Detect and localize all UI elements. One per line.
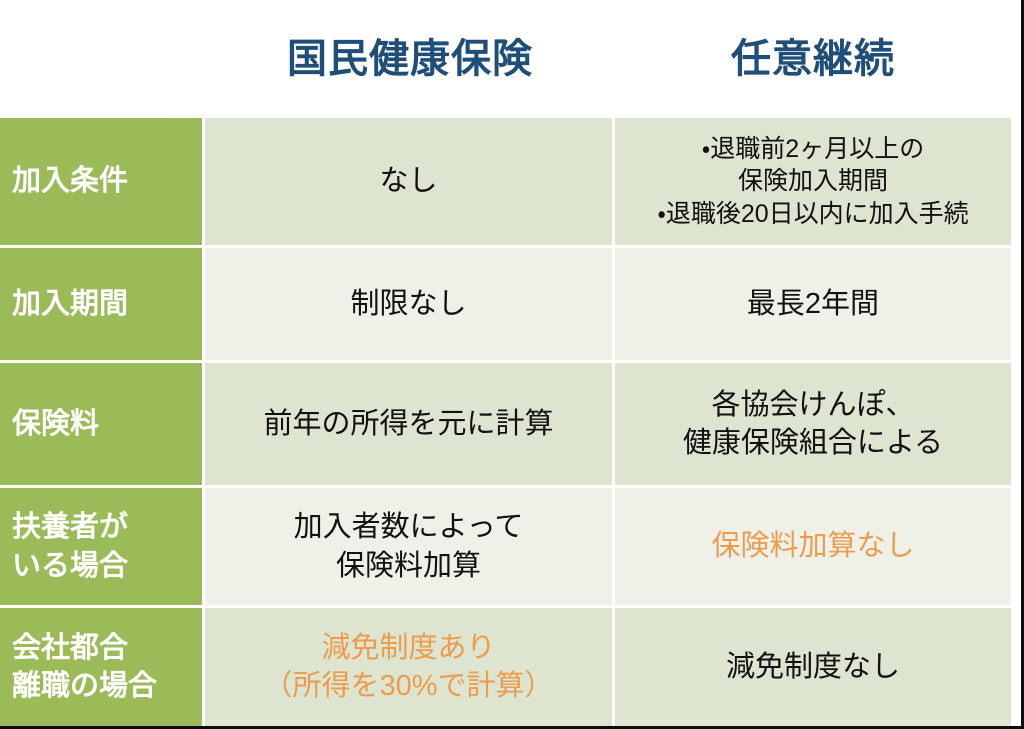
table-row: 加入条件 なし ・退職前2ヶ月以上の 保険加入期間 ・退職後20日以内に加入手続 <box>0 118 1011 248</box>
cell-kanyu-kikan-nini: 最長2年間 <box>615 248 1011 360</box>
cell-text: ・退職前2ヶ月以上の 保険加入期間 ・退職後20日以内に加入手続 <box>657 133 968 231</box>
cell-fuyosha-nini: 保険料加算なし <box>615 488 1011 605</box>
cell-line: 減免制度なし <box>726 648 900 686</box>
cell-hokenryo-nini: 各協会けんぽ、 健康保険組合による <box>615 363 1011 485</box>
cell-line: なし <box>379 162 437 200</box>
cell-line: ・退職前2ヶ月以上の <box>657 133 968 166</box>
row-label-line: 加入条件 <box>12 162 128 200</box>
cell-text: 前年の所得を元に計算 <box>263 405 553 443</box>
row-label-text: 保険料 <box>12 405 99 443</box>
row-label-fuyosha-ga-iru-baai: 扶養者が いる場合 <box>0 488 205 605</box>
cell-kaisha-tsugo-nini: 減免制度なし <box>615 608 1011 726</box>
cell-kanyu-joken-kokuho: なし <box>205 118 615 245</box>
cell-text-accent: 保険料加算なし <box>711 527 914 565</box>
cell-line: 最長2年間 <box>747 285 879 323</box>
table-column-header-row: 国民健康保険 任意継続 <box>0 0 1011 118</box>
cell-text: 最長2年間 <box>747 285 879 323</box>
cell-text: なし <box>379 162 437 200</box>
row-label-kanyu-kikan: 加入期間 <box>0 248 205 360</box>
cell-text: 各協会けんぽ、 健康保険組合による <box>683 386 943 463</box>
table-row: 扶養者が いる場合 加入者数によって 保険料加算 保険料加算なし <box>0 488 1011 608</box>
row-label-kanyu-joken: 加入条件 <box>0 118 205 245</box>
header-corner-spacer <box>0 0 205 118</box>
column-header-label: 国民健康保険 <box>287 37 533 81</box>
cell-line: 保険料加算 <box>294 547 524 585</box>
comparison-table-page: 国民健康保険 任意継続 加入条件 なし ・退職前2ヶ月以上の 保険加入期間 <box>0 0 1024 729</box>
cell-text: 加入者数によって 保険料加算 <box>294 508 524 585</box>
cell-line: 健康保険組合による <box>683 424 943 462</box>
cell-fuyosha-kokuho: 加入者数によって 保険料加算 <box>205 488 615 605</box>
row-label-text: 扶養者が いる場合 <box>12 508 128 585</box>
cell-line: 前年の所得を元に計算 <box>263 405 553 443</box>
cell-line: 制限なし <box>350 285 466 323</box>
cell-line: 減免制度あり <box>263 629 553 667</box>
comparison-table: 加入条件 なし ・退職前2ヶ月以上の 保険加入期間 ・退職後20日以内に加入手続 <box>0 118 1011 726</box>
cell-hokenryo-kokuho: 前年の所得を元に計算 <box>205 363 615 485</box>
cell-line: ・退職後20日以内に加入手続 <box>657 198 968 231</box>
table-row: 加入期間 制限なし 最長2年間 <box>0 248 1011 363</box>
cell-line: （所得を30%で計算） <box>263 667 553 705</box>
row-label-kaisha-tsugo-rishoku: 会社都合 離職の場合 <box>0 608 205 726</box>
cell-line: 加入者数によって <box>294 508 524 546</box>
row-label-text: 加入期間 <box>12 285 128 323</box>
row-label-text: 会社都合 離職の場合 <box>12 629 157 706</box>
table-row: 保険料 前年の所得を元に計算 各協会けんぽ、 健康保険組合による <box>0 363 1011 488</box>
row-label-text: 加入条件 <box>12 162 128 200</box>
cell-kanyu-kikan-kokuho: 制限なし <box>205 248 615 360</box>
row-label-line: 加入期間 <box>12 285 128 323</box>
row-label-line: 保険料 <box>12 405 99 443</box>
table-row: 会社都合 離職の場合 減免制度あり （所得を30%で計算） 減免制度なし <box>0 608 1011 726</box>
cell-line: 保険料加算なし <box>711 527 914 565</box>
row-label-line: 離職の場合 <box>12 667 157 705</box>
cell-kanyu-joken-nini: ・退職前2ヶ月以上の 保険加入期間 ・退職後20日以内に加入手続 <box>615 118 1011 245</box>
cell-kaisha-tsugo-kokuho: 減免制度あり （所得を30%で計算） <box>205 608 615 726</box>
row-label-line: いる場合 <box>12 547 128 585</box>
cell-text: 制限なし <box>350 285 466 323</box>
cell-line: 各協会けんぽ、 <box>683 386 943 424</box>
cell-text: 減免制度なし <box>726 648 900 686</box>
column-header-label: 任意継続 <box>731 37 895 81</box>
row-label-line: 扶養者が <box>12 508 128 546</box>
column-header-nini-keizoku: 任意継続 <box>615 0 1011 118</box>
column-header-kokumin-kenko-hoken: 国民健康保険 <box>205 0 615 118</box>
cell-line: 保険加入期間 <box>657 165 968 198</box>
row-label-line: 会社都合 <box>12 629 157 667</box>
row-label-hokenryo: 保険料 <box>0 363 205 485</box>
cell-text-accent: 減免制度あり （所得を30%で計算） <box>263 629 553 706</box>
